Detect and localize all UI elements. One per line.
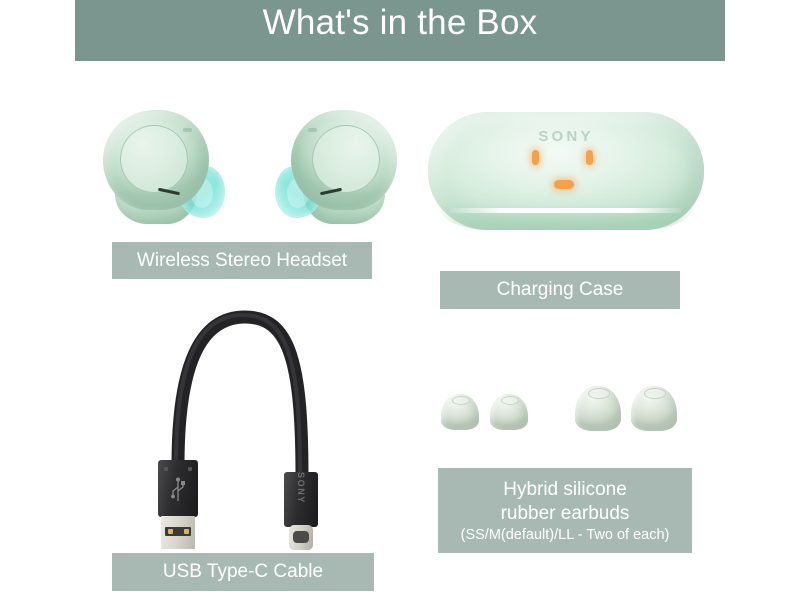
- caption-charging-case-text: Charging Case: [497, 278, 624, 302]
- usb-a-contact-pad-1: [168, 529, 173, 534]
- eartip-large-2-rim: [644, 388, 666, 399]
- caption-usb-type-c-cable: USB Type-C Cable: [112, 553, 374, 591]
- charging-case-led-right: [586, 150, 593, 165]
- earbud-right-touch-panel: [312, 125, 380, 193]
- product-image-hybrid-silicone-earbuds: [435, 382, 685, 438]
- product-image-usb-type-c-cable: SONY: [140, 305, 350, 550]
- caption-charging-case: Charging Case: [440, 271, 680, 309]
- usb-trident-icon: [170, 477, 186, 503]
- usb-a-screw-left: [164, 467, 168, 471]
- caption-hybrid-silicone-line2: rubber earbuds: [501, 502, 630, 526]
- eartip-small-1-rim: [452, 396, 470, 405]
- usb-c-tip-slot: [293, 531, 309, 543]
- caption-hybrid-silicone-line3: (SS/M(default)/LL - Two of each): [461, 526, 670, 545]
- eartip-small-2-rim: [501, 396, 519, 405]
- earbud-left-mic-port: [183, 128, 192, 132]
- usb-a-contact-pad-2: [184, 529, 189, 534]
- charging-case-lid-seam: [450, 208, 682, 213]
- page-title: What's in the Box: [263, 0, 538, 45]
- product-image-charging-case: SONY: [428, 112, 704, 234]
- caption-wireless-stereo-headset: Wireless Stereo Headset: [112, 242, 372, 279]
- product-image-wireless-stereo-headset: [95, 108, 395, 233]
- charging-case-led-center: [554, 180, 574, 189]
- caption-hybrid-silicone-line1: Hybrid silicone: [503, 478, 627, 502]
- usb-a-screw-right: [188, 467, 192, 471]
- earbud-left-touch-panel: [120, 125, 188, 193]
- earbud-left: [95, 108, 245, 228]
- charging-case-led-left: [532, 150, 539, 165]
- sony-logo: SONY: [524, 128, 608, 145]
- caption-hybrid-silicone-earbuds: Hybrid silicone rubber earbuds (SS/M(def…: [438, 468, 692, 553]
- caption-wireless-stereo-headset-text: Wireless Stereo Headset: [137, 249, 347, 273]
- earbud-right: [255, 108, 405, 228]
- usb-c-sony-logo: SONY: [284, 483, 318, 493]
- header-banner: What's in the Box: [75, 0, 725, 61]
- eartip-large-1-rim: [588, 388, 610, 399]
- earbud-right-mic-port: [308, 128, 317, 132]
- usb-c-sony-logo-text: SONY: [296, 472, 306, 504]
- caption-usb-type-c-cable-text: USB Type-C Cable: [163, 560, 323, 584]
